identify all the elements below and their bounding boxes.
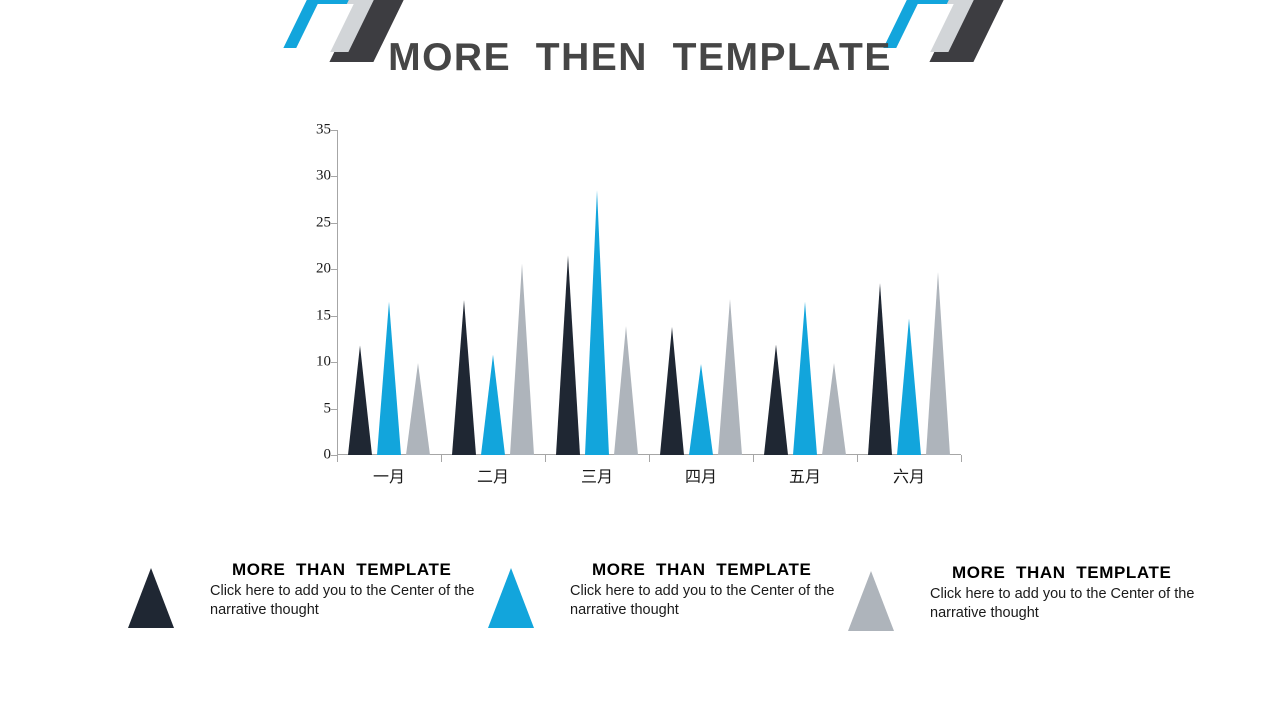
plot-area: [337, 130, 961, 455]
cone-bar-fill: [718, 299, 742, 455]
legend-triangle-fill: [128, 568, 174, 628]
x-tick-label: 二月: [477, 463, 509, 487]
cone-bar[interactable]: [585, 190, 609, 455]
x-axis-labels: 一月二月三月四月五月六月: [337, 463, 961, 497]
x-tick-label: 四月: [685, 463, 717, 487]
cone-bar-fill: [348, 345, 372, 455]
bar-group: [348, 130, 430, 455]
cone-bar-fill: [481, 355, 505, 455]
cone-bar[interactable]: [897, 319, 921, 456]
bar-group: [556, 130, 638, 455]
legend-text-block: MORE THAN TEMPLATEClick here to add you …: [210, 560, 510, 619]
x-axis-tick: [545, 455, 546, 462]
cone-bar[interactable]: [510, 264, 534, 455]
y-tick-label: 30: [295, 168, 331, 185]
cone-bar-fill: [510, 264, 534, 455]
cone-bar[interactable]: [452, 300, 476, 455]
bar-group: [868, 130, 950, 455]
y-axis-tick: [331, 130, 337, 131]
x-tick-label: 一月: [373, 463, 405, 487]
legend-body-text: Click here to add you to the Center of t…: [210, 582, 510, 619]
cone-bar-fill: [868, 283, 892, 455]
cone-bar[interactable]: [614, 326, 638, 455]
cone-bar-chart: 05101520253035 一月二月三月四月五月六月: [295, 130, 965, 500]
y-axis-tick: [331, 316, 337, 317]
cone-bar-fill: [377, 302, 401, 455]
legend-heading: MORE THAN TEMPLATE: [592, 560, 870, 580]
cone-bar[interactable]: [556, 255, 580, 455]
y-tick-label: 5: [295, 400, 331, 417]
cone-bar[interactable]: [689, 364, 713, 455]
cone-bar[interactable]: [377, 302, 401, 455]
y-axis-tick: [331, 409, 337, 410]
bar-group: [660, 130, 742, 455]
cone-bar[interactable]: [926, 272, 950, 455]
cone-bar-fill: [822, 363, 846, 455]
y-tick-label: 15: [295, 307, 331, 324]
legend-triangle-icon: [128, 568, 174, 628]
cone-bar[interactable]: [764, 345, 788, 456]
x-axis-tick: [857, 455, 858, 462]
y-axis-labels: 05101520253035: [295, 130, 331, 455]
legend-text-block: MORE THAN TEMPLATEClick here to add you …: [930, 563, 1230, 622]
cone-bar-fill: [926, 272, 950, 455]
y-tick-label: 0: [295, 447, 331, 464]
cone-bar-fill: [897, 319, 921, 456]
cone-bar[interactable]: [868, 283, 892, 455]
x-axis-tick: [441, 455, 442, 462]
cone-bar[interactable]: [718, 299, 742, 455]
cone-bar[interactable]: [406, 363, 430, 455]
legend-triangle-fill: [848, 571, 894, 631]
cone-bar-fill: [585, 190, 609, 455]
cone-bar-fill: [614, 326, 638, 455]
legend-text-block: MORE THAN TEMPLATEClick here to add you …: [570, 560, 870, 619]
legend-body-text: Click here to add you to the Center of t…: [930, 585, 1230, 622]
cone-bar-fill: [406, 363, 430, 455]
bar-group: [764, 130, 846, 455]
legend-triangle-icon: [848, 571, 894, 631]
cone-bar[interactable]: [660, 327, 684, 455]
y-tick-label: 20: [295, 261, 331, 278]
y-tick-label: 25: [295, 214, 331, 231]
y-axis-line: [337, 130, 338, 455]
y-tick-label: 35: [295, 122, 331, 139]
legend-heading: MORE THAN TEMPLATE: [952, 563, 1230, 583]
y-axis-tick: [331, 362, 337, 363]
cone-bar-fill: [689, 364, 713, 455]
y-axis-tick: [331, 223, 337, 224]
x-tick-label: 六月: [893, 463, 925, 487]
y-axis-tick: [331, 269, 337, 270]
bar-group: [452, 130, 534, 455]
y-axis-tick: [331, 176, 337, 177]
slide-canvas: MORE THEN TEMPLATE 05101520253035 一月二月三月…: [0, 0, 1280, 720]
legend-body-text: Click here to add you to the Center of t…: [570, 582, 870, 619]
legend-triangle-fill: [488, 568, 534, 628]
cone-bar-fill: [556, 255, 580, 455]
cone-bar[interactable]: [481, 355, 505, 455]
x-axis-tick: [337, 455, 338, 462]
x-axis-tick: [649, 455, 650, 462]
cone-bar-fill: [452, 300, 476, 455]
legend-triangle-icon: [488, 568, 534, 628]
cone-bar[interactable]: [793, 302, 817, 455]
y-tick-label: 10: [295, 354, 331, 371]
slide-title: MORE THEN TEMPLATE: [0, 36, 1280, 80]
cone-bar[interactable]: [822, 363, 846, 455]
legend-heading: MORE THAN TEMPLATE: [232, 560, 510, 580]
cone-bar-fill: [793, 302, 817, 455]
cone-bar-fill: [764, 345, 788, 456]
x-tick-label: 三月: [581, 463, 613, 487]
x-tick-label: 五月: [789, 463, 821, 487]
cone-bar-fill: [660, 327, 684, 455]
x-axis-tick: [961, 455, 962, 462]
x-axis-tick: [753, 455, 754, 462]
cone-bar[interactable]: [348, 345, 372, 455]
